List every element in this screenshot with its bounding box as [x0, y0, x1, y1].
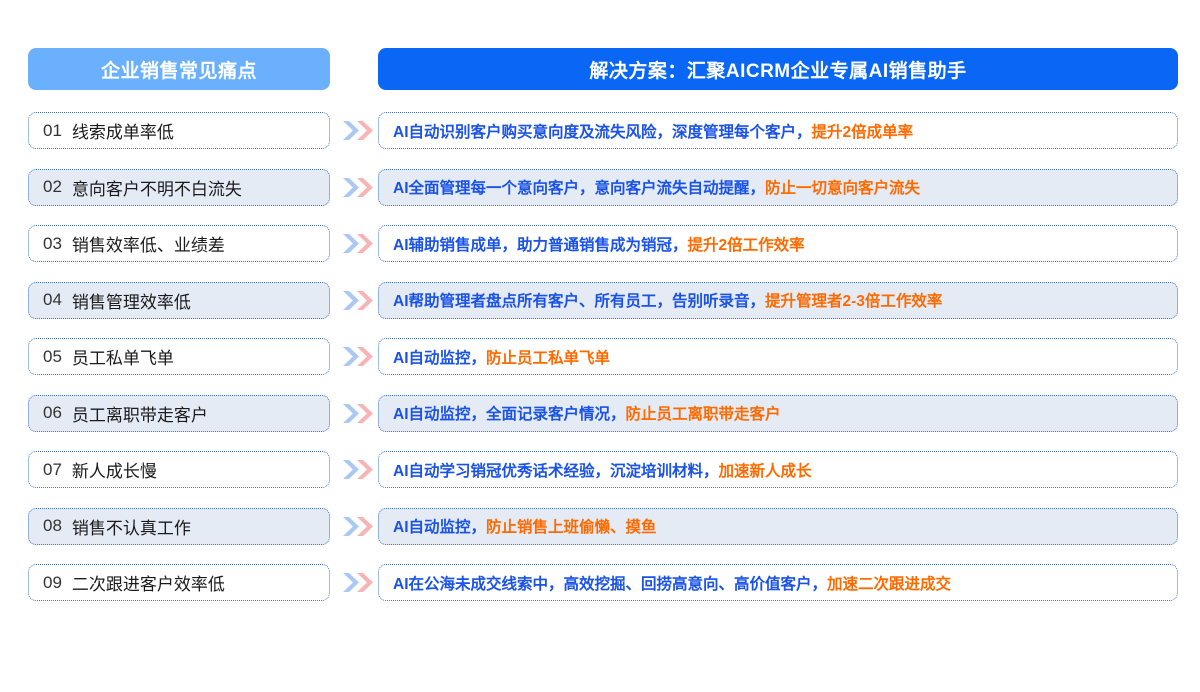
- double-chevron-right-icon: [341, 400, 375, 427]
- solution-text: AI自动识别客户购买意向度及流失风险，深度管理每个客户，: [393, 120, 812, 142]
- pain-point-label: 新人成长慢: [72, 457, 157, 482]
- pain-point-label: 线索成单率低: [72, 118, 174, 143]
- table-row: 07新人成长慢AI自动学习销冠优秀话术经验，沉淀培训材料，加速新人成长: [0, 451, 1200, 488]
- pain-point-label: 销售管理效率低: [72, 288, 191, 313]
- pain-points-column-header: 企业销售常见痛点: [28, 48, 330, 90]
- solution-cell[interactable]: AI自动识别客户购买意向度及流失风险，深度管理每个客户，提升2倍成单率: [378, 112, 1178, 149]
- solution-text: AI自动监控，: [393, 346, 486, 368]
- pain-point-cell[interactable]: 02意向客户不明不白流失: [28, 169, 330, 206]
- solution-highlight: 防止一切意向客户流失: [765, 176, 920, 198]
- header-row: 企业销售常见痛点 解决方案：汇聚AICRM企业专属AI销售助手: [0, 48, 1200, 90]
- table-row: 04销售管理效率低AI帮助管理者盘点所有客户、所有员工，告别听录音，提升管理者2…: [0, 282, 1200, 319]
- pain-point-number: 08: [43, 516, 62, 536]
- solution-text: AI帮助管理者盘点所有客户、所有员工，告别听录音，: [393, 289, 765, 311]
- solution-text: AI自动监控，: [393, 515, 486, 537]
- table-row: 01线索成单率低AI自动识别客户购买意向度及流失风险，深度管理每个客户，提升2倍…: [0, 112, 1200, 149]
- table-row: 03销售效率低、业绩差AI辅助销售成单，助力普通销售成为销冠，提升2倍工作效率: [0, 225, 1200, 262]
- table-row: 02意向客户不明不白流失AI全面管理每一个意向客户，意向客户流失自动提醒，防止一…: [0, 169, 1200, 206]
- solution-text: AI自动学习销冠优秀话术经验，沉淀培训材料，: [393, 459, 719, 481]
- solution-text: AI全面管理每一个意向客户，意向客户流失自动提醒，: [393, 176, 765, 198]
- rows-container: 01线索成单率低AI自动识别客户购买意向度及流失风险，深度管理每个客户，提升2倍…: [0, 112, 1200, 621]
- double-chevron-right-icon: [341, 287, 375, 314]
- solution-cell[interactable]: AI全面管理每一个意向客户，意向客户流失自动提醒，防止一切意向客户流失: [378, 169, 1178, 206]
- solution-cell[interactable]: AI帮助管理者盘点所有客户、所有员工，告别听录音，提升管理者2-3倍工作效率: [378, 282, 1178, 319]
- pain-point-number: 04: [43, 290, 62, 310]
- double-chevron-right-icon: [341, 117, 375, 144]
- pain-point-cell[interactable]: 06员工离职带走客户: [28, 395, 330, 432]
- pain-point-number: 03: [43, 234, 62, 254]
- double-chevron-right-icon: [341, 456, 375, 483]
- double-chevron-right-icon: [341, 230, 375, 257]
- table-row: 06员工离职带走客户AI自动监控，全面记录客户情况，防止员工离职带走客户: [0, 395, 1200, 432]
- solutions-column-header: 解决方案：汇聚AICRM企业专属AI销售助手: [378, 48, 1178, 90]
- pain-point-number: 09: [43, 573, 62, 593]
- pain-point-cell[interactable]: 07新人成长慢: [28, 451, 330, 488]
- solution-highlight: 防止员工离职带走客户: [626, 402, 781, 424]
- solution-cell[interactable]: AI自动学习销冠优秀话术经验，沉淀培训材料，加速新人成长: [378, 451, 1178, 488]
- comparison-board: 企业销售常见痛点 解决方案：汇聚AICRM企业专属AI销售助手 01线索成单率低…: [0, 0, 1200, 692]
- table-row: 05员工私单飞单AI自动监控，防止员工私单飞单: [0, 338, 1200, 375]
- pain-point-label: 二次跟进客户效率低: [72, 570, 225, 595]
- solution-cell[interactable]: AI自动监控，防止销售上班偷懒、摸鱼: [378, 508, 1178, 545]
- solution-text: AI辅助销售成单，助力普通销售成为销冠，: [393, 233, 688, 255]
- solution-highlight: 防止员工私单飞单: [486, 346, 610, 368]
- table-row: 09二次跟进客户效率低AI在公海未成交线索中，高效挖掘、回捞高意向、高价值客户，…: [0, 564, 1200, 601]
- pain-point-cell[interactable]: 03销售效率低、业绩差: [28, 225, 330, 262]
- pain-point-label: 销售不认真工作: [72, 514, 191, 539]
- solution-highlight: 提升2倍工作效率: [688, 233, 805, 255]
- solution-text: AI自动监控，全面记录客户情况，: [393, 402, 626, 424]
- solution-text: AI在公海未成交线索中，高效挖掘、回捞高意向、高价值客户，: [393, 572, 827, 594]
- solution-highlight: 防止销售上班偷懒、摸鱼: [486, 515, 657, 537]
- solution-cell[interactable]: AI辅助销售成单，助力普通销售成为销冠，提升2倍工作效率: [378, 225, 1178, 262]
- solution-cell[interactable]: AI在公海未成交线索中，高效挖掘、回捞高意向、高价值客户，加速二次跟进成交: [378, 564, 1178, 601]
- double-chevron-right-icon: [341, 513, 375, 540]
- table-row: 08销售不认真工作AI自动监控，防止销售上班偷懒、摸鱼: [0, 508, 1200, 545]
- pain-point-cell[interactable]: 05员工私单飞单: [28, 338, 330, 375]
- solution-highlight: 提升2倍成单率: [812, 120, 914, 142]
- double-chevron-right-icon: [341, 174, 375, 201]
- solution-cell[interactable]: AI自动监控，防止员工私单飞单: [378, 338, 1178, 375]
- solution-highlight: 加速二次跟进成交: [827, 572, 951, 594]
- pain-point-cell[interactable]: 01线索成单率低: [28, 112, 330, 149]
- solution-cell[interactable]: AI自动监控，全面记录客户情况，防止员工离职带走客户: [378, 395, 1178, 432]
- pain-point-cell[interactable]: 04销售管理效率低: [28, 282, 330, 319]
- pain-point-number: 01: [43, 121, 62, 141]
- pain-point-label: 员工离职带走客户: [72, 401, 208, 426]
- double-chevron-right-icon: [341, 569, 375, 596]
- pain-point-label: 销售效率低、业绩差: [72, 231, 225, 256]
- solution-highlight: 加速新人成长: [719, 459, 812, 481]
- pain-point-number: 02: [43, 177, 62, 197]
- pain-point-label: 意向客户不明不白流失: [72, 175, 242, 200]
- pain-point-number: 07: [43, 460, 62, 480]
- solution-highlight: 提升管理者2-3倍工作效率: [765, 289, 942, 311]
- pain-point-number: 05: [43, 347, 62, 367]
- pain-point-label: 员工私单飞单: [72, 344, 174, 369]
- pain-point-cell[interactable]: 09二次跟进客户效率低: [28, 564, 330, 601]
- double-chevron-right-icon: [341, 343, 375, 370]
- pain-point-cell[interactable]: 08销售不认真工作: [28, 508, 330, 545]
- pain-point-number: 06: [43, 403, 62, 423]
